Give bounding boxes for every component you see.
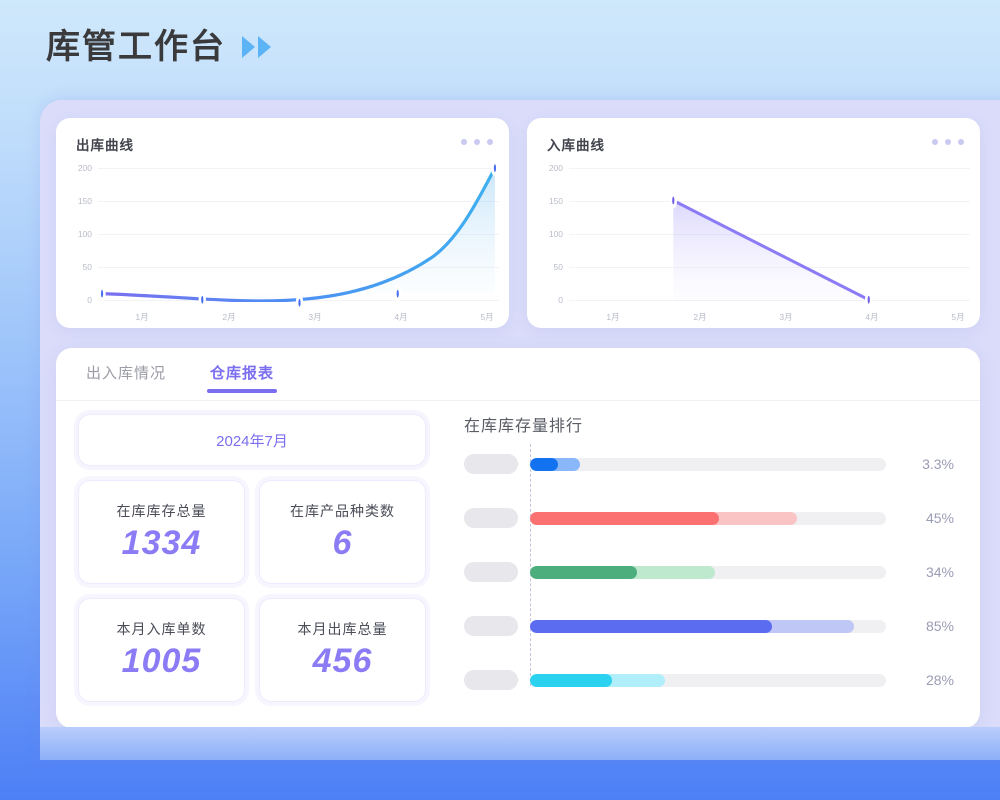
y-tick: 0 <box>537 295 563 305</box>
page-title: 库管工作台 <box>46 30 226 64</box>
ranking-bar-track <box>530 566 886 579</box>
stat-card-product-types[interactable]: 在库产品种类数 6 <box>259 480 426 584</box>
page-header: 库管工作台 <box>46 30 271 64</box>
x-tick: 1月 <box>135 311 148 323</box>
ranking-percent: 34% <box>898 564 954 580</box>
x-tick: 2月 <box>693 311 706 323</box>
chart-card-outbound: 出库曲线 200 150 100 50 0 <box>56 118 509 328</box>
tabs-divider <box>56 400 980 401</box>
arrow-icon <box>242 36 255 58</box>
stat-value: 1005 <box>122 643 202 680</box>
ranking-row[interactable]: 45% <box>464 504 954 532</box>
x-tick: 5月 <box>480 311 493 323</box>
stat-value: 456 <box>313 643 373 680</box>
stats-section: 2024年7月 在库库存总量 1334 在库产品种类数 6 本月入库单数 100… <box>78 414 426 702</box>
stat-card-inbound-orders[interactable]: 本月入库单数 1005 <box>78 598 245 702</box>
ranking-bar-track <box>530 512 886 525</box>
y-tick: 150 <box>66 196 92 206</box>
ranking-row[interactable]: 3.3% <box>464 450 954 478</box>
y-tick: 50 <box>537 262 563 272</box>
x-tick: 4月 <box>865 311 878 323</box>
date-selector[interactable]: 2024年7月 <box>78 414 426 466</box>
ranking-section: 在库库存量排行 3.3% 45% <box>464 412 954 710</box>
x-tick: 1月 <box>606 311 619 323</box>
chart-points-inbound <box>569 160 970 302</box>
ranking-list: 3.3% 45% 34% <box>464 450 954 694</box>
stat-value: 1334 <box>122 525 202 562</box>
arrow-icon <box>258 36 271 58</box>
ranking-bar-dark <box>530 566 637 579</box>
ranking-label-placeholder <box>464 508 518 528</box>
ranking-bar-dark <box>530 512 719 525</box>
y-tick: 50 <box>66 262 92 272</box>
report-card: 出入库情况 仓库报表 2024年7月 在库库存总量 1334 在库产品种类数 6… <box>56 348 980 728</box>
ranking-row[interactable]: 85% <box>464 612 954 640</box>
chart-card-inbound: 入库曲线 200 150 100 50 0 <box>527 118 980 328</box>
double-right-arrow-icon[interactable] <box>242 36 271 58</box>
stat-card-outbound-total[interactable]: 本月出库总量 456 <box>259 598 426 702</box>
y-tick: 200 <box>537 163 563 173</box>
ranking-row[interactable]: 34% <box>464 558 954 586</box>
stat-label: 在库库存总量 <box>117 501 207 521</box>
stat-label: 本月入库单数 <box>117 619 207 639</box>
ranking-label-placeholder <box>464 670 518 690</box>
ranking-bar-dark <box>530 620 772 633</box>
stat-card-total-stock[interactable]: 在库库存总量 1334 <box>78 480 245 584</box>
chart-plot-outbound: 200 150 100 50 0 <box>56 160 509 328</box>
more-dots-icon[interactable] <box>461 139 493 145</box>
ranking-row[interactable]: 28% <box>464 666 954 694</box>
stat-value: 6 <box>333 525 353 562</box>
chart-title-outbound: 出库曲线 <box>76 134 134 154</box>
x-tick: 4月 <box>394 311 407 323</box>
x-tick: 3月 <box>779 311 792 323</box>
more-dots-icon[interactable] <box>932 139 964 145</box>
ranking-title: 在库库存量排行 <box>464 412 954 436</box>
ranking-percent: 45% <box>898 510 954 526</box>
x-tick: 5月 <box>951 311 964 323</box>
tab-warehouse-report[interactable]: 仓库报表 <box>210 362 274 393</box>
y-tick: 150 <box>537 196 563 206</box>
ranking-bar-track <box>530 674 886 687</box>
chart-title-inbound: 入库曲线 <box>547 134 605 154</box>
ranking-bar-track <box>530 458 886 471</box>
ranking-percent: 28% <box>898 672 954 688</box>
y-tick: 100 <box>537 229 563 239</box>
ranking-bar-track <box>530 620 886 633</box>
x-tick: 2月 <box>222 311 235 323</box>
ranking-percent: 85% <box>898 618 954 634</box>
dashboard-panel: 出库曲线 200 150 100 50 0 <box>40 100 1000 760</box>
stat-label: 本月出库总量 <box>298 619 388 639</box>
y-tick: 0 <box>66 295 92 305</box>
chart-plot-inbound: 200 150 100 50 0 <box>527 160 980 328</box>
ranking-bar-dark <box>530 674 612 687</box>
ranking-bar-dark <box>530 458 558 471</box>
y-tick: 200 <box>66 163 92 173</box>
stat-grid: 在库库存总量 1334 在库产品种类数 6 本月入库单数 1005 本月出库总量… <box>78 480 426 702</box>
tab-inout-status[interactable]: 出入库情况 <box>86 362 166 393</box>
x-tick: 3月 <box>308 311 321 323</box>
tab-bar: 出入库情况 仓库报表 <box>86 362 274 393</box>
y-tick: 100 <box>66 229 92 239</box>
charts-row: 出库曲线 200 150 100 50 0 <box>56 118 980 328</box>
ranking-label-placeholder <box>464 616 518 636</box>
ranking-percent: 3.3% <box>898 456 954 472</box>
ranking-label-placeholder <box>464 562 518 582</box>
stat-label: 在库产品种类数 <box>290 501 395 521</box>
chart-points-outbound <box>98 160 499 302</box>
ranking-label-placeholder <box>464 454 518 474</box>
